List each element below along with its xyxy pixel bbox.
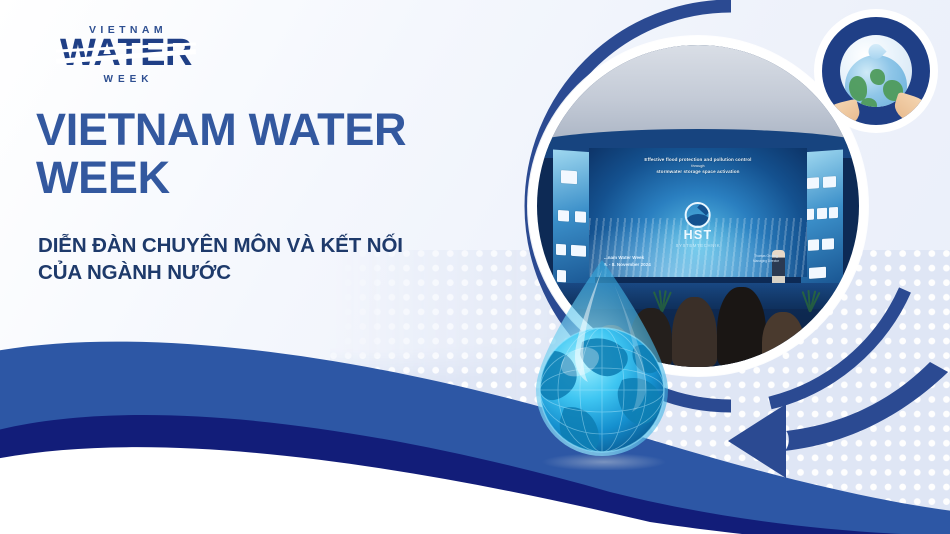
hands-globe-badge: [814, 9, 938, 133]
badge-navy-disc: [822, 17, 930, 125]
slide-speaker: Thomas Grüning Managing Director: [753, 254, 779, 264]
slide-title-line2: stormwater storage space activation: [656, 169, 739, 174]
page-subtitle: DIỄN ĐÀN CHUYÊN MÔN VÀ KẾT NỐI CỦA NGÀNH…: [38, 233, 438, 286]
page-title: VIETNAM WATER WEEK: [36, 106, 476, 201]
slide-hst-logo: HST SYSTEMTECHNIK: [676, 202, 721, 248]
waterdrop-globe-graphic: [518, 258, 686, 470]
hand-left-icon: [822, 99, 863, 125]
hst-logo-subtext: SYSTEMTECHNIK: [676, 243, 721, 248]
slide-speaker-role: Managing Director: [753, 259, 779, 264]
logo-line-water: WATER: [60, 35, 192, 71]
hand-right-icon: [891, 91, 930, 125]
slide-title: Effective flood protection and pollution…: [602, 157, 795, 175]
hst-logo-text: HST: [676, 229, 721, 242]
vietnam-water-week-logo: VIETNAM WATER WEEK: [46, 24, 206, 85]
hst-logo-mark-icon: [685, 202, 711, 228]
slide-title-through: through: [602, 164, 795, 169]
poster-canvas: Effective flood protection and pollution…: [0, 0, 950, 534]
logo-line-week: WEEK: [51, 74, 206, 85]
slide-title-line1: Effective flood protection and pollution…: [644, 157, 751, 162]
